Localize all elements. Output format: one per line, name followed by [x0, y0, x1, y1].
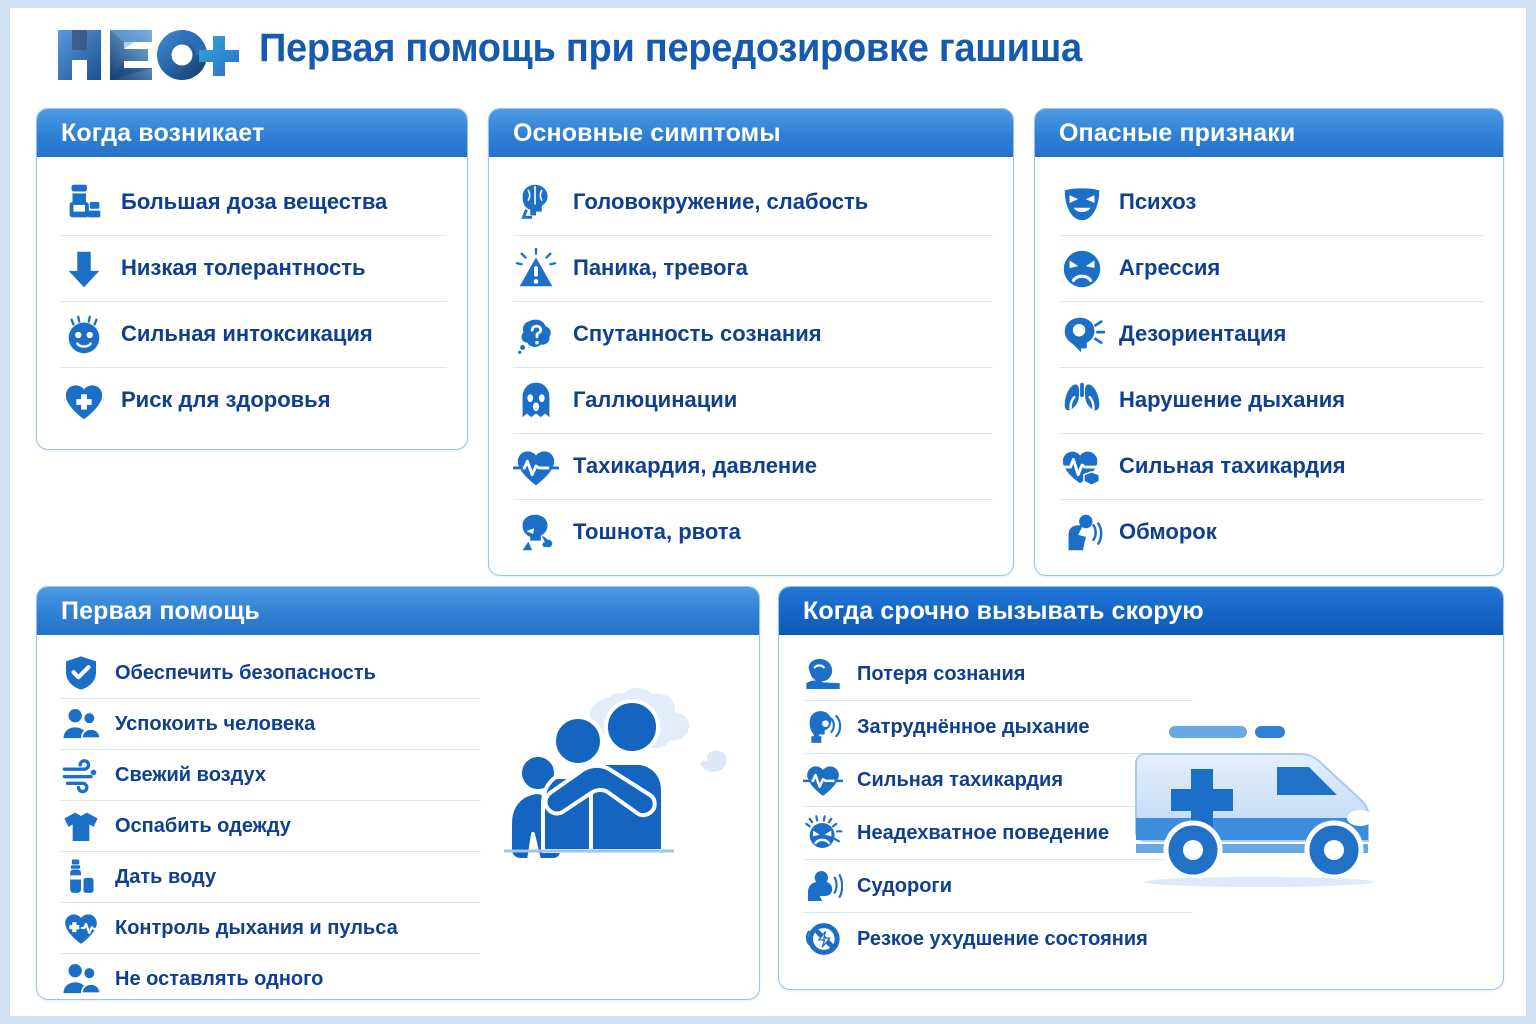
warning-triangle-icon	[513, 246, 559, 292]
heart-pulse-icon	[1059, 444, 1105, 490]
card-body-call-ambulance: Потеря сознания Затруднённое дыхание Сил…	[779, 635, 1213, 979]
card-body-danger-signs: Психоз Агрессия Дезориентация Нарушение …	[1035, 157, 1503, 576]
card-body-when-occurs: Большая доза вещества Низкая толерантнос…	[37, 157, 467, 447]
list-item[interactable]: Нарушение дыхания	[1059, 367, 1483, 433]
list-item[interactable]: Свежий воздух	[61, 749, 481, 800]
list-item-label: Оспабить одежду	[115, 815, 291, 837]
list-item[interactable]: Большая доза вещества	[61, 169, 447, 235]
angry-dizzy-face-icon	[803, 813, 843, 853]
card-when-occurs: Когда возникает Большая доза вещества Ни…	[36, 108, 468, 450]
list-item-label: Головокружение, слабость	[573, 190, 868, 214]
list-item[interactable]: Сильная интоксикация	[61, 301, 447, 367]
unconscious-person-icon	[803, 654, 843, 694]
list-item-label: Риск для здоровья	[121, 388, 331, 412]
neo-plus-logo	[54, 24, 244, 86]
list-item-label: Судороги	[857, 875, 952, 897]
page-title: Первая помощь при передозировке гашиша	[259, 26, 1082, 71]
list-item-label: Затруднённое дыхание	[857, 716, 1090, 738]
list-item-label: Тахикардия, давление	[573, 454, 817, 478]
card-title-main-symptoms: Основные симптомы	[489, 109, 1013, 157]
list-item-label: Спутанность сознания	[573, 322, 822, 346]
list-item[interactable]: Галлюцинации	[513, 367, 993, 433]
list-item-label: Сильная тахикардия	[857, 769, 1063, 791]
angry-face-icon	[1059, 246, 1105, 292]
list-item[interactable]: Тахикардия, давление	[513, 433, 993, 499]
list-item[interactable]: Дезориентация	[1059, 301, 1483, 367]
list-item-label: Большая доза вещества	[121, 190, 387, 214]
list-item[interactable]: Спутанность сознания	[513, 301, 993, 367]
list-item[interactable]: Неадехватное поведение	[803, 806, 1193, 859]
card-body-main-symptoms: Головокружение, слабость Паника, тревога…	[489, 157, 1013, 576]
heart-pulse-icon	[803, 760, 843, 800]
wind-icon	[61, 755, 101, 795]
breathing-difficulty-icon	[803, 707, 843, 747]
card-title-when-occurs: Когда возникает	[37, 109, 467, 157]
card-title-call-ambulance: Когда срочно вызывать скорую	[779, 587, 1503, 635]
list-item-label: Потеря сознания	[857, 663, 1025, 685]
page-header: Первая помощь при передозировке гашиша	[10, 8, 1526, 100]
ghost-icon	[513, 378, 559, 424]
list-item[interactable]: Обеспечить безопасность	[61, 647, 481, 698]
evil-mask-icon	[1059, 179, 1105, 225]
card-call-ambulance: Когда срочно вызывать скорую Потеря созн…	[778, 586, 1504, 990]
heart-pulse-icon	[513, 444, 559, 490]
lungs-icon	[1059, 378, 1105, 424]
water-bottle-icon	[61, 857, 101, 897]
card-title-danger-signs: Опасные признаки	[1035, 109, 1503, 157]
list-item[interactable]: Потеря сознания	[803, 647, 1193, 700]
brain-head-icon	[513, 179, 559, 225]
list-item[interactable]: Психоз	[1059, 169, 1483, 235]
list-item[interactable]: Сильная тахикардия	[1059, 433, 1483, 499]
down-arrow-icon	[61, 246, 107, 292]
heart-cross-icon	[61, 378, 107, 424]
card-first-aid: Первая помощь Обеспечить безопасность Ус…	[36, 586, 760, 1000]
dizzy-head-icon	[1059, 312, 1105, 358]
list-item-label: Не оставлять одного	[115, 968, 323, 990]
list-item[interactable]: Тошнота, рвота	[513, 499, 993, 565]
list-item-label: Контроль дыхания и пульса	[115, 917, 398, 939]
thought-question-icon	[513, 312, 559, 358]
list-item[interactable]: Не оставлять одного	[61, 953, 481, 1000]
list-item-label: Тошнота, рвота	[573, 520, 741, 544]
list-item[interactable]: Обморок	[1059, 499, 1483, 565]
list-item-label: Свежий воздух	[115, 764, 266, 786]
list-item[interactable]: Контроль дыхания и пульса	[61, 902, 481, 953]
card-body-first-aid: Обеспечить безопасность Успокоить челове…	[37, 635, 501, 1000]
list-item[interactable]: Затруднённое дыхание	[803, 700, 1193, 753]
dizzy-face-icon	[61, 312, 107, 358]
list-item[interactable]: Паника, тревога	[513, 235, 993, 301]
list-item-label: Обморок	[1119, 520, 1217, 544]
infographic-page: Первая помощь при передозировке гашиша К…	[10, 8, 1526, 1016]
list-item-label: Дать воду	[115, 866, 216, 888]
heart-cross-pulse-icon	[61, 908, 101, 948]
list-item-label: Дезориентация	[1119, 322, 1286, 346]
list-item-label: Низкая толерантность	[121, 256, 366, 280]
list-item-label: Паника, тревога	[573, 256, 748, 280]
list-item[interactable]: Агрессия	[1059, 235, 1483, 301]
list-item-label: Нарушение дыхания	[1119, 388, 1345, 412]
list-item[interactable]: Сильная тахикардия	[803, 753, 1193, 806]
list-item-label: Неадехватное поведение	[857, 822, 1109, 844]
card-title-first-aid: Первая помощь	[37, 587, 759, 635]
vomiting-head-icon	[513, 510, 559, 556]
list-item[interactable]: Резкое ухудшение состояния	[803, 912, 1193, 965]
list-item[interactable]: Дать воду	[61, 851, 481, 902]
sharp-decline-icon	[803, 919, 843, 959]
list-item[interactable]: Головокружение, слабость	[513, 169, 993, 235]
list-item[interactable]: Оспабить одежду	[61, 800, 481, 851]
list-item-label: Обеспечить безопасность	[115, 662, 376, 684]
two-people-comforting-illustration	[492, 645, 760, 885]
list-item-label: Сильная тахикардия	[1119, 454, 1346, 478]
card-danger-signs: Опасные признаки Психоз Агрессия Дезорие…	[1034, 108, 1504, 576]
fainting-icon	[1059, 510, 1105, 556]
list-item-label: Галлюцинации	[573, 388, 737, 412]
list-item[interactable]: Успокоить человека	[61, 698, 481, 749]
card-main-symptoms: Основные симптомы Головокружение, слабос…	[488, 108, 1014, 576]
list-item[interactable]: Риск для здоровья	[61, 367, 447, 433]
shield-check-icon	[61, 653, 101, 693]
list-item-label: Успокоить человека	[115, 713, 315, 735]
tshirt-icon	[61, 806, 101, 846]
two-people-icon	[61, 704, 101, 744]
pill-bottle-icon	[61, 179, 107, 225]
list-item[interactable]: Судороги	[803, 859, 1193, 912]
two-people-icon	[61, 959, 101, 999]
list-item-label: Резкое ухудшение состояния	[857, 928, 1148, 950]
list-item-label: Сильная интоксикация	[121, 322, 373, 346]
list-item-label: Агрессия	[1119, 256, 1220, 280]
convulsions-icon	[803, 866, 843, 906]
list-item-label: Психоз	[1119, 190, 1196, 214]
list-item[interactable]: Низкая толерантность	[61, 235, 447, 301]
